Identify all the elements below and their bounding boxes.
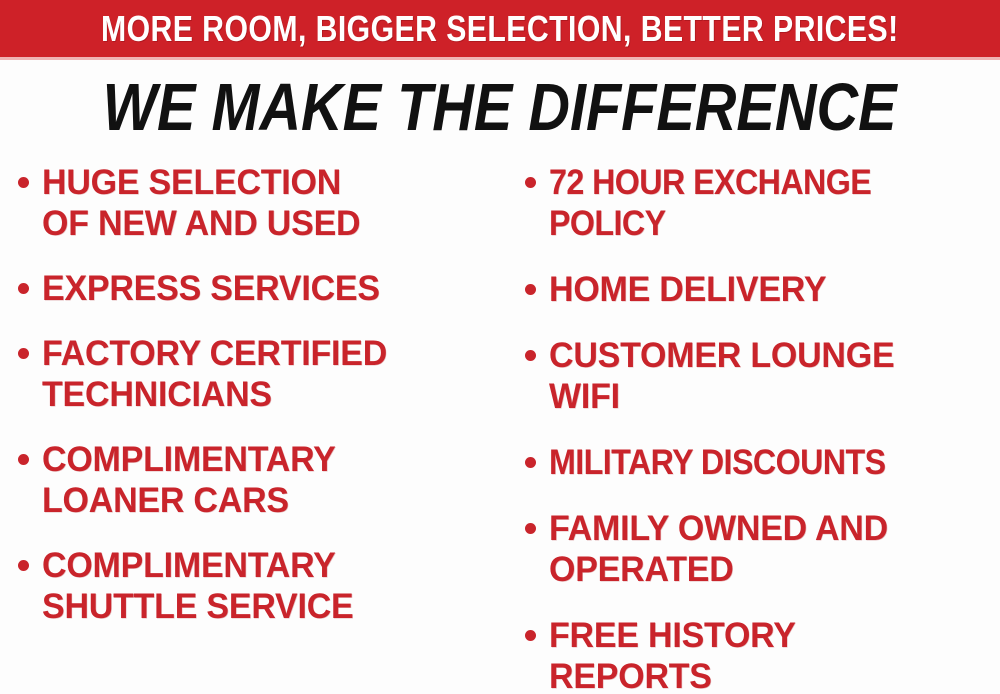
list-item: FAMILY OWNED AND OPERATED bbox=[525, 508, 1000, 590]
list-item-label: HUGE SELECTION OF NEW AND USED bbox=[42, 162, 491, 244]
page-title: WE MAKE THE DIFFERENCE bbox=[103, 74, 897, 141]
benefits-columns: HUGE SELECTION OF NEW AND USED EXPRESS S… bbox=[0, 158, 1000, 694]
bullet-dot-icon bbox=[18, 454, 29, 465]
bullet-dot-icon bbox=[525, 523, 536, 534]
bullet-dot-icon bbox=[18, 560, 29, 571]
bullet-dot-icon bbox=[525, 177, 536, 188]
promo-poster: MORE ROOM, BIGGER SELECTION, BETTER PRIC… bbox=[0, 0, 1000, 694]
list-item-label: COMPLIMENTARY LOANER CARS bbox=[42, 439, 491, 521]
bullet-dot-icon bbox=[525, 350, 536, 361]
list-item: FREE HISTORY REPORTS bbox=[525, 615, 1000, 694]
headline-area: WE MAKE THE DIFFERENCE bbox=[0, 62, 1000, 152]
list-item: COMPLIMENTARY LOANER CARS bbox=[18, 439, 505, 521]
list-item: COMPLIMENTARY SHUTTLE SERVICE bbox=[18, 545, 505, 627]
list-item: 72 HOUR EXCHANGE POLICY bbox=[525, 162, 1000, 244]
benefits-column-right: 72 HOUR EXCHANGE POLICY HOME DELIVERY CU… bbox=[505, 158, 1000, 694]
top-banner: MORE ROOM, BIGGER SELECTION, BETTER PRIC… bbox=[0, 0, 1000, 57]
bullet-dot-icon bbox=[525, 284, 536, 295]
list-item-label: FACTORY CERTIFIED TECHNICIANS bbox=[42, 333, 491, 415]
top-banner-text: MORE ROOM, BIGGER SELECTION, BETTER PRIC… bbox=[101, 11, 899, 47]
list-item-label: COMPLIMENTARY SHUTTLE SERVICE bbox=[42, 545, 491, 627]
list-item-label: EXPRESS SERVICES bbox=[42, 268, 491, 309]
list-item: EXPRESS SERVICES bbox=[18, 268, 505, 309]
list-item-label: 72 HOUR EXCHANGE POLICY bbox=[549, 162, 964, 244]
bullet-dot-icon bbox=[18, 348, 29, 359]
list-item: MILITARY DISCOUNTS bbox=[525, 442, 1000, 483]
list-item: HOME DELIVERY bbox=[525, 269, 1000, 310]
bullet-dot-icon bbox=[525, 630, 536, 641]
list-item-label: CUSTOMER LOUNGE WIFI bbox=[549, 335, 986, 417]
benefits-column-left: HUGE SELECTION OF NEW AND USED EXPRESS S… bbox=[0, 158, 505, 694]
list-item: CUSTOMER LOUNGE WIFI bbox=[525, 335, 1000, 417]
list-item-label: HOME DELIVERY bbox=[549, 269, 986, 310]
list-item: FACTORY CERTIFIED TECHNICIANS bbox=[18, 333, 505, 415]
list-item: HUGE SELECTION OF NEW AND USED bbox=[18, 162, 505, 244]
list-item-label: MILITARY DISCOUNTS bbox=[549, 442, 964, 483]
list-item-label: FAMILY OWNED AND OPERATED bbox=[549, 508, 986, 590]
banner-underline bbox=[0, 57, 1000, 60]
bullet-dot-icon bbox=[525, 457, 536, 468]
list-item-label: FREE HISTORY REPORTS bbox=[549, 615, 986, 694]
bullet-dot-icon bbox=[18, 283, 29, 294]
bullet-dot-icon bbox=[18, 177, 29, 188]
